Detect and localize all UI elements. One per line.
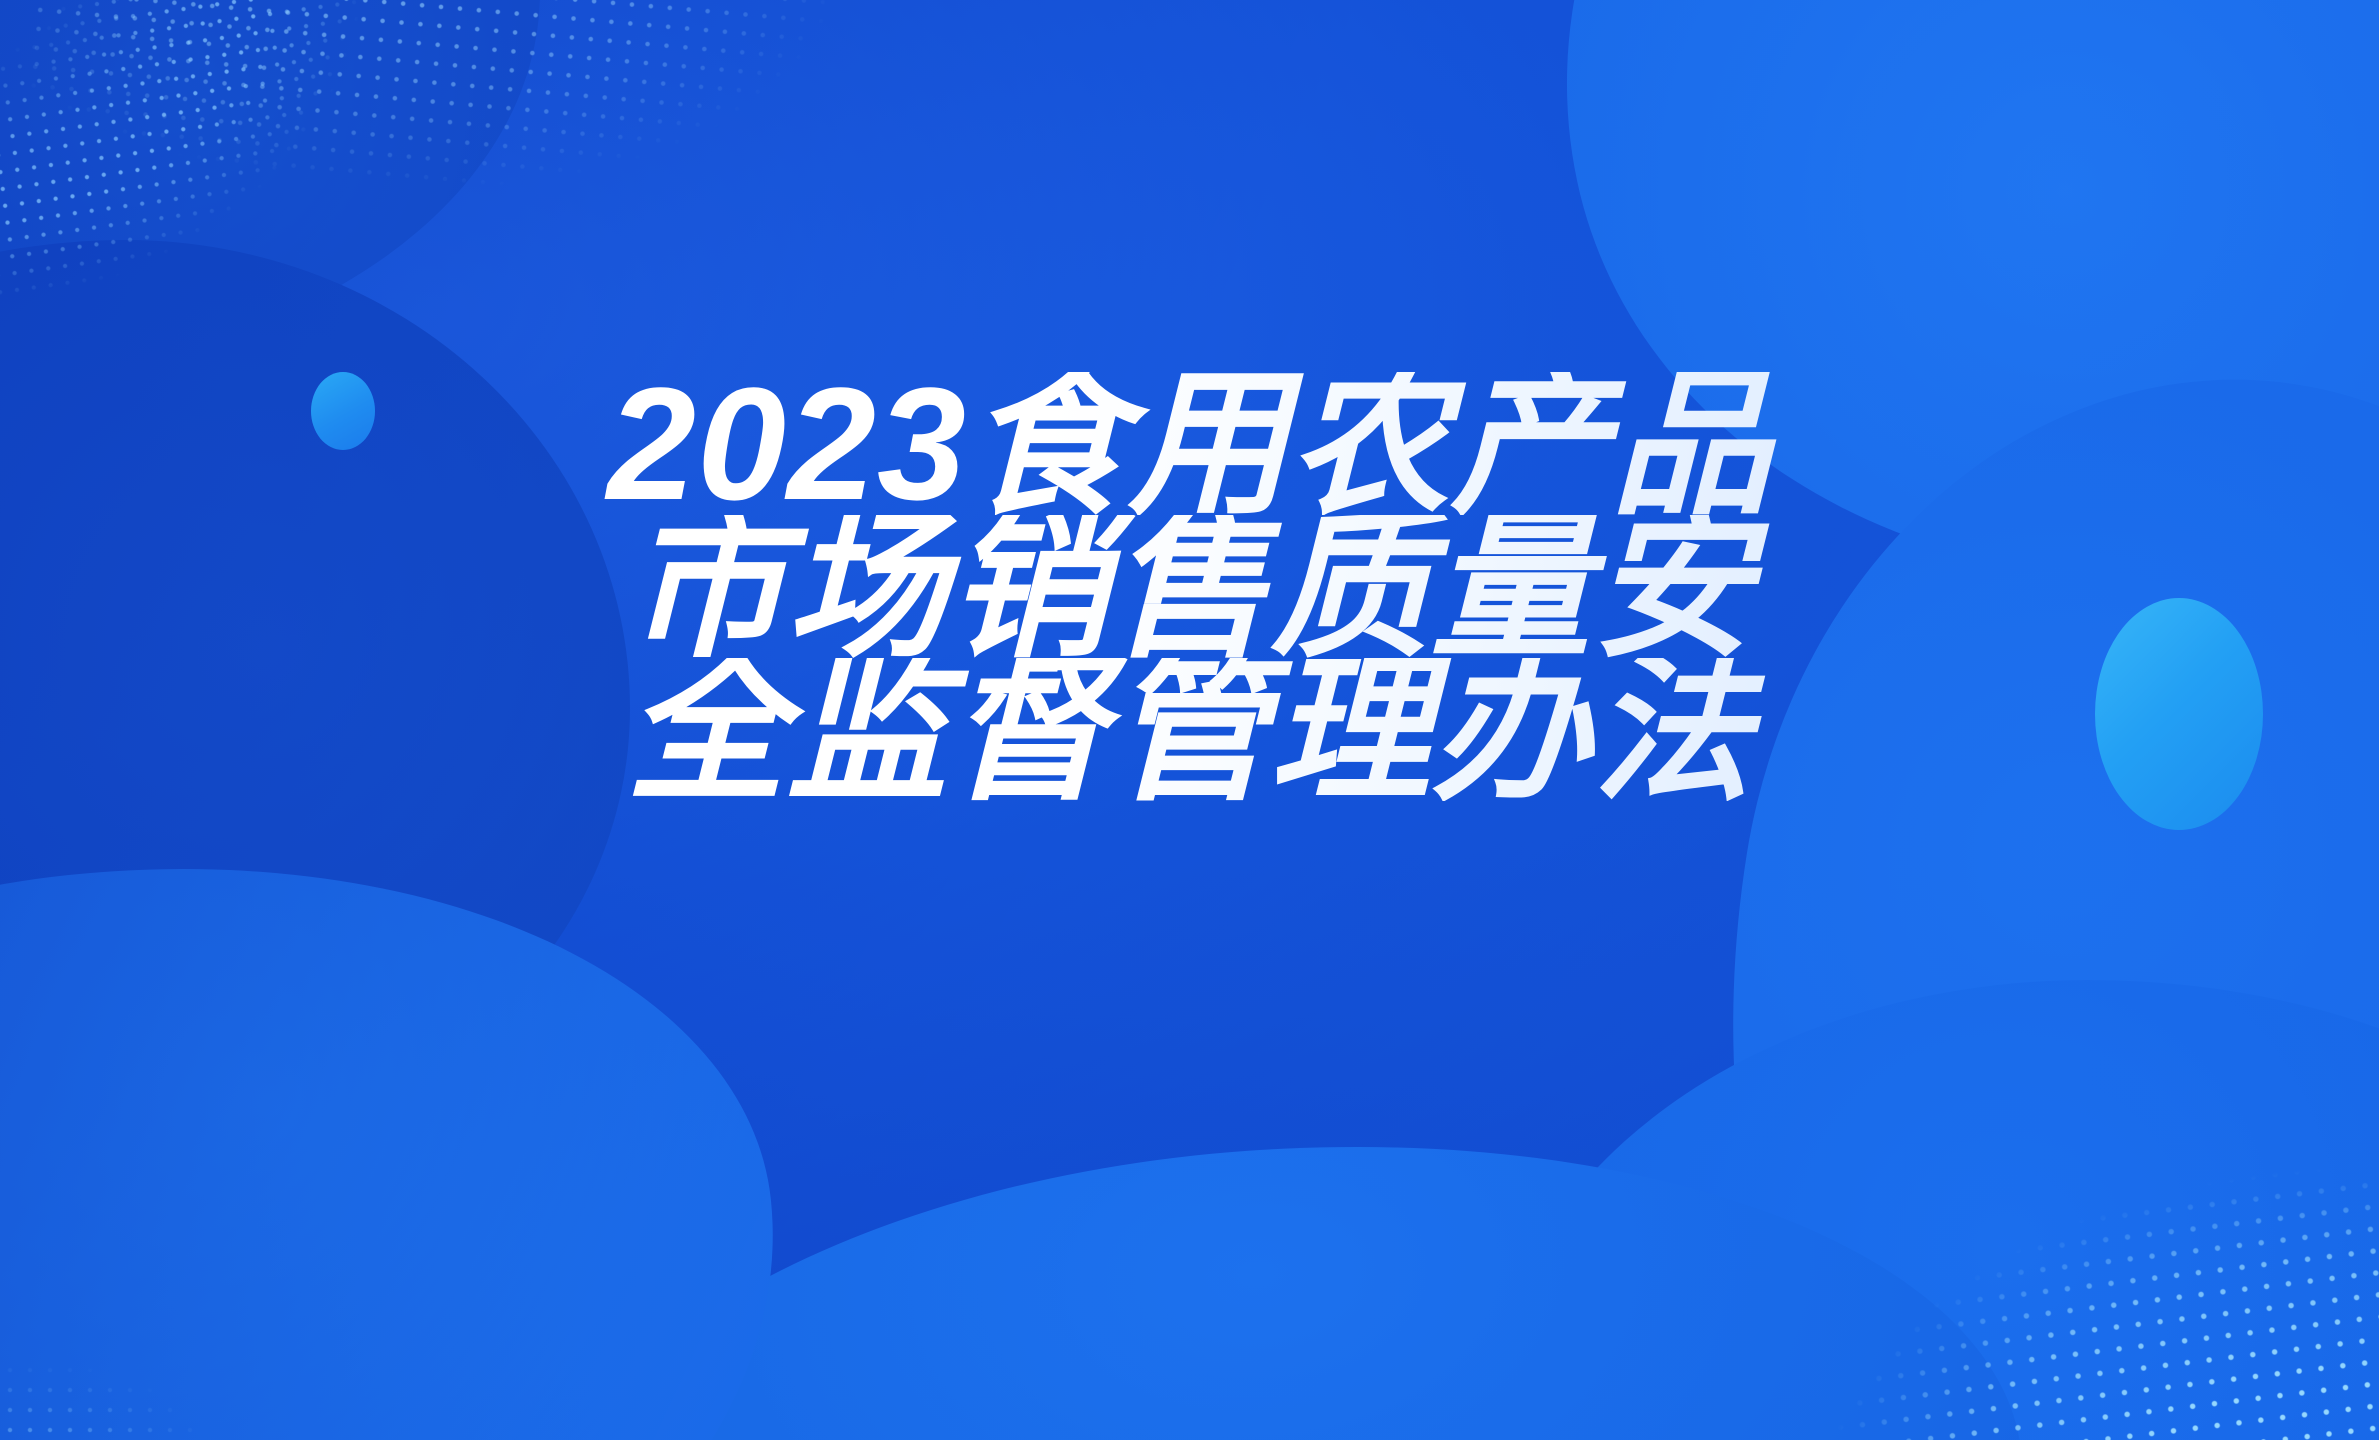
title-line-3: 全监督管理办法 xyxy=(0,658,2379,801)
poster-canvas: 2023食用农产品 市场销售质量安 全监督管理办法 xyxy=(0,0,2379,1440)
title-line-1: 2023食用农产品 xyxy=(0,372,2379,515)
title-line-2: 市场销售质量安 xyxy=(0,515,2379,658)
poster-title: 2023食用农产品 市场销售质量安 全监督管理办法 xyxy=(0,372,2379,801)
halftone-dots-bottom-left-icon xyxy=(0,1280,320,1440)
